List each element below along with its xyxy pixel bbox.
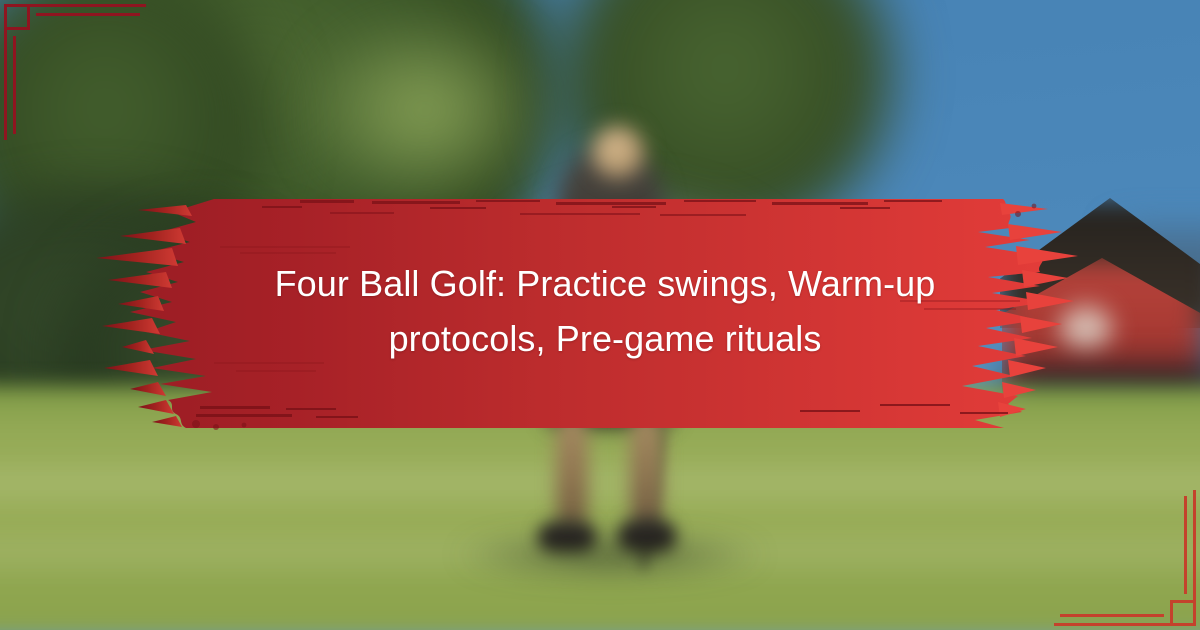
ornament-line-v-inner bbox=[1184, 496, 1187, 594]
grass-streak-1 bbox=[0, 470, 1200, 496]
ornament-line-v-outer bbox=[4, 30, 7, 140]
golfer-leg-left bbox=[556, 412, 588, 530]
golfer-leg-right bbox=[630, 412, 662, 530]
ornament-line-v-corner bbox=[1170, 600, 1173, 626]
ornament-line-v-outer bbox=[1193, 490, 1196, 600]
ornament-line-h-outer bbox=[30, 4, 146, 7]
tree-highlight bbox=[300, 10, 550, 210]
ornament-line-h-inner bbox=[1060, 614, 1164, 617]
ornament-line-h-inner bbox=[36, 13, 140, 16]
barn-window bbox=[1060, 306, 1112, 350]
golfer-shoe-right bbox=[618, 518, 676, 552]
golfer-shoe-left bbox=[538, 520, 596, 552]
ornament-line-h-join bbox=[4, 27, 30, 30]
page-title: Four Ball Golf: Practice swings, Warm-up… bbox=[246, 257, 964, 366]
social-share-card: Four Ball Golf: Practice swings, Warm-up… bbox=[0, 0, 1200, 630]
golfer-head bbox=[592, 126, 644, 178]
ornament-line-v-inner bbox=[13, 36, 16, 134]
title-container: Four Ball Golf: Practice swings, Warm-up… bbox=[210, 196, 1000, 428]
ornament-line-h-outer bbox=[1054, 623, 1170, 626]
golfer-ground-shadow bbox=[460, 534, 760, 576]
ornament-line-h-join bbox=[1170, 600, 1196, 603]
ornament-square-icon bbox=[1170, 600, 1196, 626]
